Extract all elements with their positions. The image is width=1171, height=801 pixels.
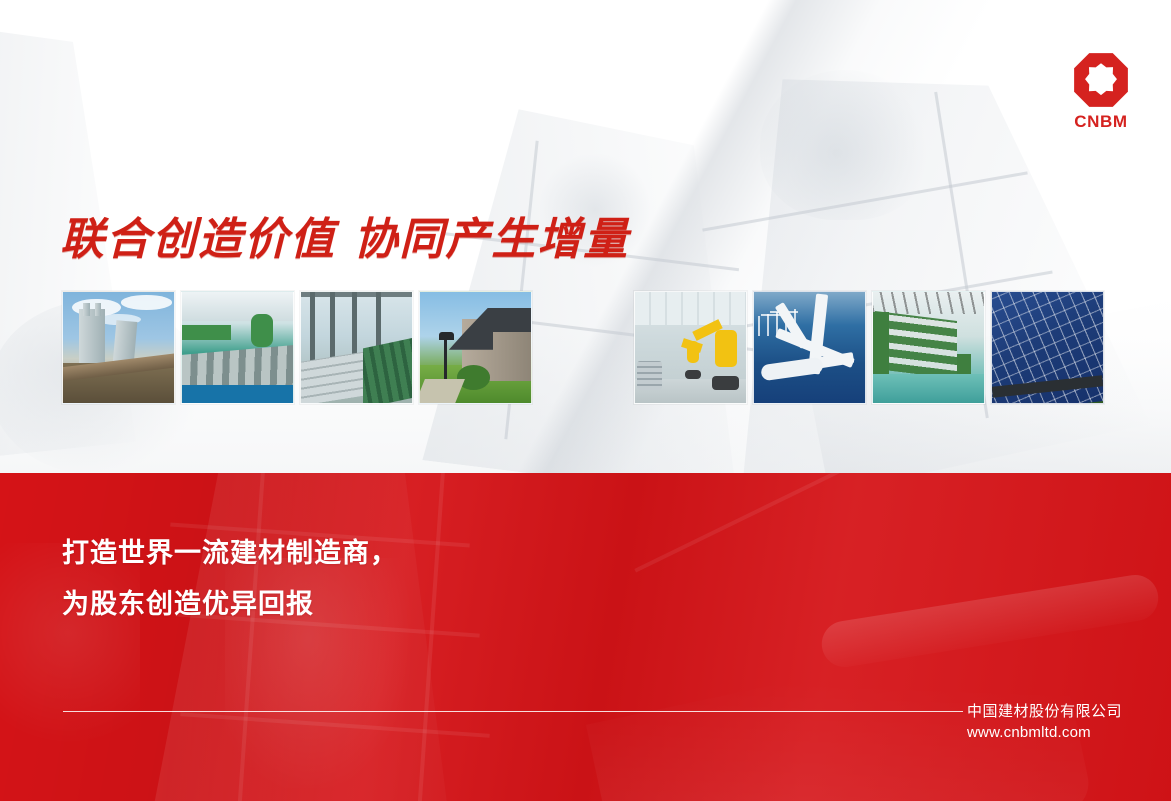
footer-website-url[interactable]: www.cnbmltd.com (967, 722, 1122, 743)
fiberglass-line-photo (872, 291, 985, 404)
wind-turbine-photo (753, 291, 866, 404)
glass-production-line-photo (181, 291, 294, 404)
cnbm-octagon-star-icon (1073, 52, 1129, 108)
footer-divider-line (63, 711, 963, 712)
slogan-line-2: 为股东创造优异回报 (62, 579, 398, 630)
red-band-shading (0, 473, 1171, 801)
residential-house-photo (419, 291, 532, 404)
footer-company-name: 中国建材股份有限公司 (967, 701, 1122, 722)
robotics-factory-photo (634, 291, 747, 404)
cement-plant-photo (62, 291, 175, 404)
board-factory-photo (300, 291, 413, 404)
slogan-line-1: 打造世界一流建材制造商， (62, 528, 398, 579)
solar-panel-photo (991, 291, 1104, 404)
photo-strip-left (62, 291, 532, 404)
cnbm-logo-text: CNBM (1062, 112, 1140, 132)
cnbm-logo[interactable]: CNBM (1062, 52, 1140, 132)
photo-strip-right (634, 291, 1104, 404)
headline-slogan: 联合创造价值 协同产生增量 (60, 203, 629, 267)
footer-identity: 中国建材股份有限公司 www.cnbmltd.com (967, 701, 1122, 743)
red-banner-section (0, 473, 1171, 801)
company-vision-slogan: 打造世界一流建材制造商， 为股东创造优异回报 (62, 528, 398, 630)
watermark-silo-right (760, 70, 930, 220)
slide-root: CNBM 联合创造价值 协同产生增量 (0, 0, 1171, 801)
